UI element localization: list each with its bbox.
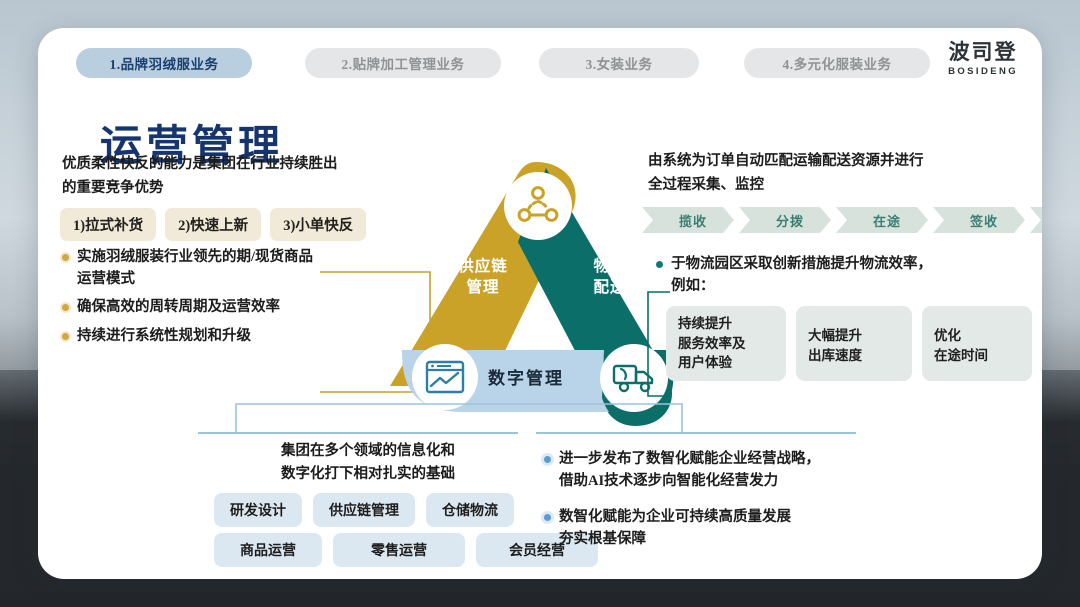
bottom-right-rule: [536, 432, 856, 434]
tab-label: 2.贴牌加工管理业务: [341, 53, 464, 73]
bottom-left-rule: [198, 432, 518, 434]
bullet-dot-icon: [656, 261, 663, 268]
flow-step-sorting[interactable]: 分拨: [739, 207, 831, 233]
tab-brand-down-jacket[interactable]: 1.品牌羽绒服业务: [76, 48, 252, 78]
bullet-text: 实施羽绒服装行业领先的期/现货商品 运营模式: [77, 246, 313, 291]
bottom-bullet-2: 数智化赋能为企业可持续高质量发展 夯实根基保障: [544, 506, 974, 551]
chip-merchandise-ops[interactable]: 商品运营: [214, 533, 322, 567]
right-lead-text: 由系统为订单自动匹配运输配送资源并进行 全过程采集、监控: [648, 150, 1042, 198]
domain-chip-row-1: 研发设计 供应链管理 仓储物流: [214, 493, 514, 527]
tag-pull-replenishment[interactable]: 1)拉式补货: [60, 208, 156, 241]
bullet-dot-icon: [544, 514, 551, 521]
chip-warehouse-logistics[interactable]: 仓储物流: [426, 493, 514, 527]
bullet-text: 进一步发布了数智化赋能企业经营战略， 借助AI技术逐步向智能化经营发力: [559, 448, 820, 493]
digital-circle: [412, 344, 478, 410]
tag-small-batch[interactable]: 3)小单快反: [270, 208, 366, 241]
domain-chip-row-2: 商品运营 零售运营 会员经营: [214, 533, 598, 567]
flow-step-signed[interactable]: 签收: [933, 207, 1025, 233]
tab-label: 3.女装业务: [585, 53, 652, 73]
flow-step-pickup[interactable]: 揽收: [642, 207, 734, 233]
bullet-dot-icon: [62, 333, 69, 340]
bottom-bullet-1: 进一步发布了数智化赋能企业经营战略， 借助AI技术逐步向智能化经营发力: [544, 448, 974, 493]
logistics-flow-chevrons: 揽收 分拨 在途 签收 ···: [642, 207, 1042, 233]
measure-transit-time[interactable]: 优化 在途时间: [922, 306, 1032, 381]
tab-bar: 1.品牌羽绒服业务 2.贴牌加工管理业务 3.女装业务 4.多元化服装业务 波司…: [62, 48, 1018, 80]
logo-chinese: 波司登: [948, 42, 1018, 63]
slide-card: 1.品牌羽绒服业务 2.贴牌加工管理业务 3.女装业务 4.多元化服装业务 波司…: [38, 28, 1042, 579]
flow-step-more[interactable]: ···: [1030, 207, 1042, 233]
chip-rd-design[interactable]: 研发设计: [214, 493, 302, 527]
bottom-heading: 集团在多个领域的信息化和 数字化打下相对扎实的基础: [218, 440, 518, 486]
bullet-dot-icon: [544, 456, 551, 463]
capability-tag-row: 1)拉式补货 2)快速上新 3)小单快反: [60, 208, 366, 241]
flow-step-label: 签收: [970, 211, 998, 230]
tab-diversified-apparel[interactable]: 4.多元化服装业务: [744, 48, 930, 78]
logo-latin: BOSIDENG: [948, 66, 1018, 77]
tab-oem-management[interactable]: 2.贴牌加工管理业务: [305, 48, 501, 78]
chip-retail-ops[interactable]: 零售运营: [333, 533, 465, 567]
dashboard-chart-icon: [425, 359, 465, 395]
bullet-text: 持续进行系统性规划和升级: [77, 325, 251, 347]
supply-chain-circle: [504, 172, 572, 240]
measure-outbound-speed[interactable]: 大幅提升 出库速度: [796, 306, 912, 381]
right-bullet-1: 于物流园区采取创新措施提升物流效率， 例如：: [656, 253, 1042, 298]
measure-service-efficiency[interactable]: 持续提升 服务效率及 用户体验: [666, 306, 786, 381]
tab-womenswear[interactable]: 3.女装业务: [539, 48, 699, 78]
digital-label: 数字管理: [488, 364, 564, 389]
flow-step-in-transit[interactable]: 在途: [836, 207, 928, 233]
supply-chain-label: 供应链 管理: [428, 257, 538, 299]
bullet-dot-icon: [62, 304, 69, 311]
flow-step-label: 揽收: [679, 211, 707, 230]
chip-supply-chain[interactable]: 供应链管理: [313, 493, 415, 527]
tab-label: 1.品牌羽绒服业务: [109, 53, 218, 73]
tab-label: 4.多元化服装业务: [782, 53, 891, 73]
tag-fast-newness[interactable]: 2)快速上新: [165, 208, 261, 241]
flow-step-label: 分拨: [776, 211, 804, 230]
teal-connector-bracket: [642, 290, 672, 400]
supply-chain-network-icon: [516, 184, 560, 228]
blue-connector-bracket: [234, 402, 684, 436]
bullet-text: 确保高效的周转周期及运营效率: [77, 296, 280, 318]
bullet-text: 数智化赋能为企业可持续高质量发展 夯实根基保障: [559, 506, 791, 551]
bullet-text: 于物流园区采取创新措施提升物流效率， 例如：: [671, 253, 932, 298]
flow-step-label: 在途: [873, 211, 901, 230]
logistics-measure-boxes: 持续提升 服务效率及 用户体验 大幅提升 出库速度 优化 在途时间: [666, 306, 1032, 381]
bosideng-logo: 波司登 BOSIDENG: [948, 42, 1018, 77]
bullet-dot-icon: [62, 254, 69, 261]
